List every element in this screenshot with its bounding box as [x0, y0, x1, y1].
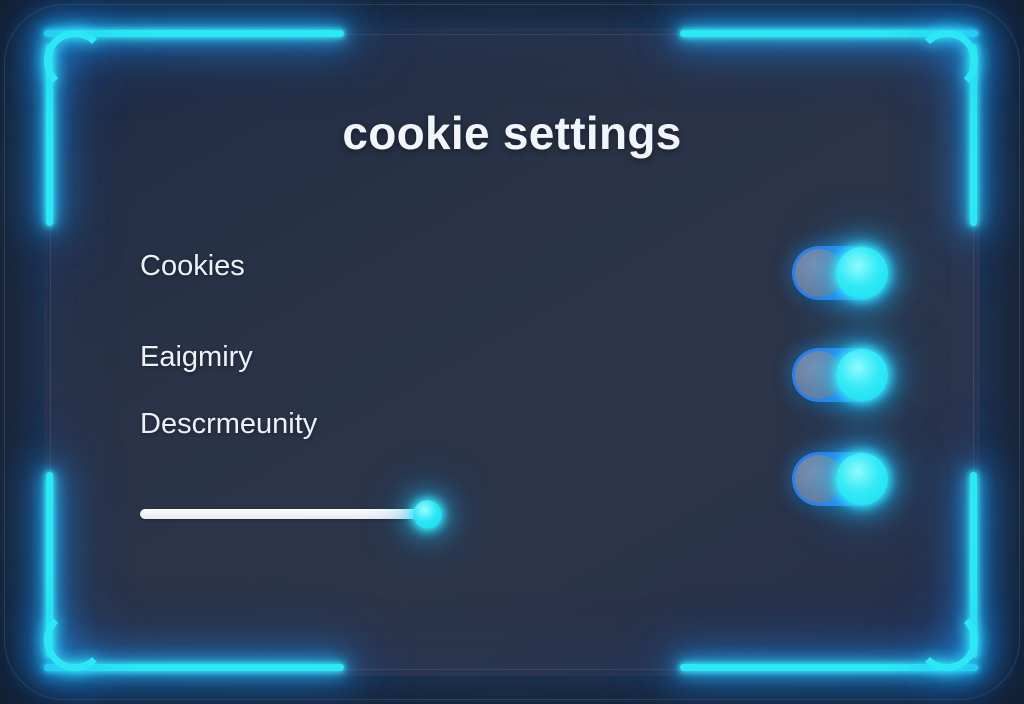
setting-label-cookies: Cookies	[140, 250, 245, 283]
page-title: cookie settings	[44, 106, 980, 160]
setting-label-eaigmiry: Eaigmiry	[140, 341, 253, 374]
slider-knob-icon[interactable]	[413, 500, 442, 529]
toggle-cookies[interactable]	[792, 246, 888, 300]
card-content: cookie settings Cookies Eaigmiry Descrme…	[44, 28, 980, 676]
setting-label-descrmeunity: Descrmeunity	[140, 408, 317, 441]
scene: cookie settings Cookies Eaigmiry Descrme…	[0, 0, 1024, 704]
toggle-knob-icon[interactable]	[836, 453, 888, 505]
toggle-descrmeunity[interactable]	[792, 452, 888, 506]
settings-slider[interactable]	[140, 498, 490, 530]
toggle-knob-icon[interactable]	[836, 247, 888, 299]
slider-track[interactable]	[140, 509, 430, 519]
toggle-eaigmiry[interactable]	[792, 348, 888, 402]
toggle-knob-icon[interactable]	[836, 349, 888, 401]
